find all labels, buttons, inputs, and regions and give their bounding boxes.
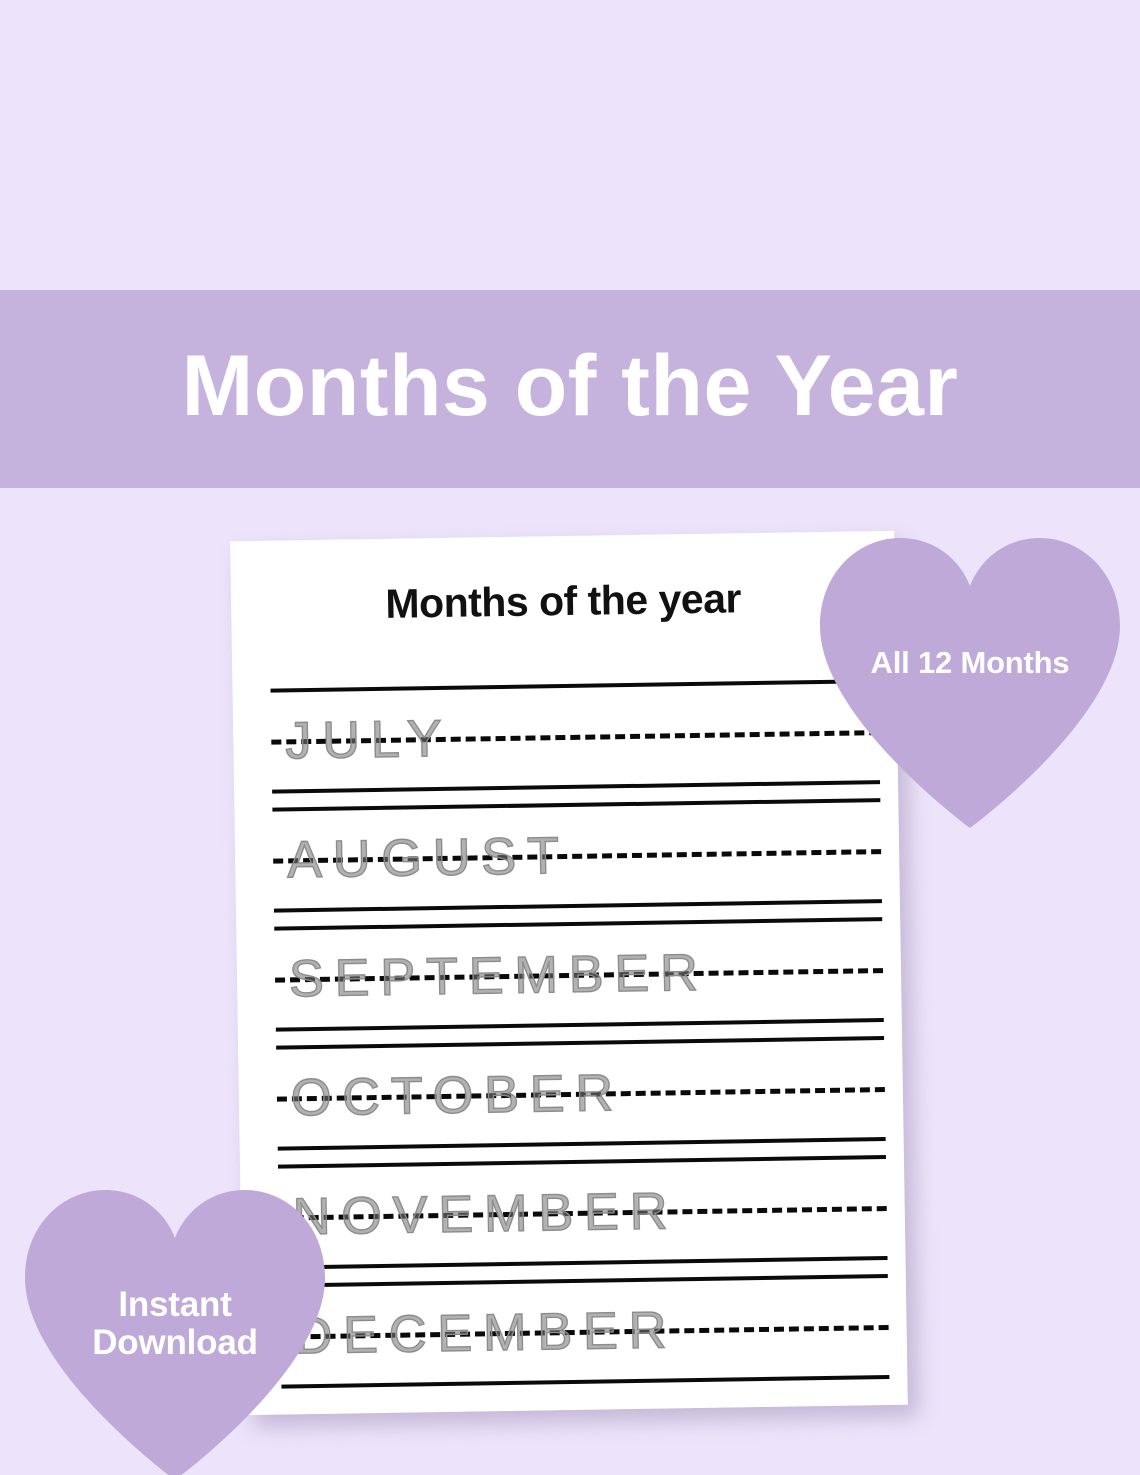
ruled-line-bottom [278,1137,886,1151]
ruled-line-bottom [276,1018,884,1032]
tracing-word: JULY [285,712,453,767]
listing-image: Months of the Year Months of the year JU… [0,0,1140,1475]
ruled-line-top [272,798,880,812]
badge-all-12-months: All 12 Months [820,538,1120,828]
ruled-line-bottom [274,899,882,913]
tracing-word: OCTOBER [291,1067,625,1124]
tracing-row: NOVEMBER [278,1155,888,1270]
ruled-line-top [280,1274,888,1288]
tracing-row: OCTOBER [276,1036,886,1151]
tracing-row: SEPTEMBER [274,917,884,1032]
worksheet-title: Months of the year [231,573,896,630]
badge-instant-download: Instant Download [25,1190,325,1475]
ruled-line-top [274,917,882,931]
tracing-word: AUGUST [287,829,570,885]
banner-title: Months of the Year [182,343,959,435]
ruled-line-top [270,679,878,693]
badge-all-12-months-label: All 12 Months [871,646,1070,679]
badge-instant-download-label: Instant Download [92,1286,258,1362]
worksheet-paper: Months of the year JULY AUGUST [230,531,908,1415]
worksheet-preview: Months of the year JULY AUGUST [230,531,908,1415]
ruled-line-bottom [280,1256,888,1270]
tracing-word: NOVEMBER [292,1185,678,1243]
heart-icon [820,538,1120,828]
tracing-word: SEPTEMBER [289,946,709,1005]
ruled-line-top [278,1155,886,1169]
ruled-line-bottom [272,780,880,794]
tracing-row: JULY [270,679,880,794]
title-banner: Months of the Year [0,290,1140,488]
ruled-line-bottom [281,1375,889,1389]
tracing-row: DECEMBER [280,1274,890,1389]
tracing-row: AUGUST [272,798,882,913]
tracing-word: DECEMBER [294,1304,677,1362]
ruled-line-top [276,1036,884,1050]
tracing-rows: JULY AUGUST SEPTEMBER [270,679,889,1402]
